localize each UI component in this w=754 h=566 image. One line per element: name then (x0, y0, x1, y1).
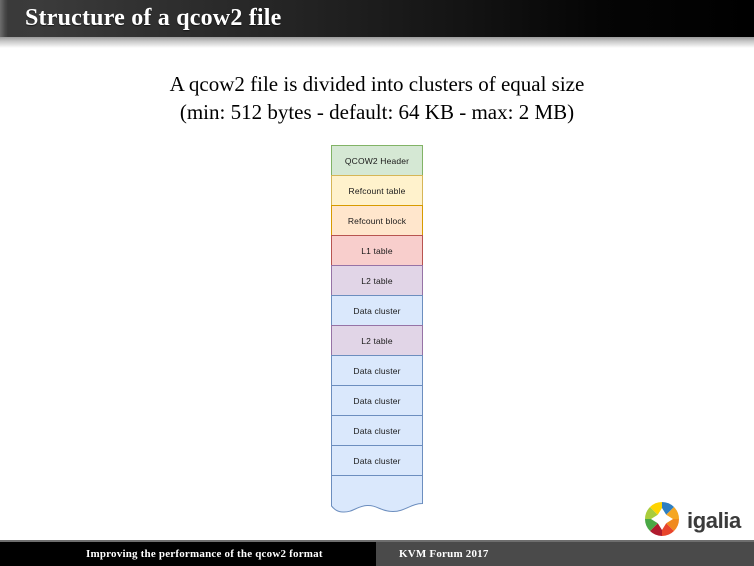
title-bar-shadow-strip (0, 37, 754, 48)
slide-title-bar: Structure of a qcow2 file (0, 0, 754, 37)
igalia-pinwheel-icon (645, 502, 679, 536)
diagram-block-data-cluster-1: Data cluster (331, 295, 423, 326)
footer-event-name: KVM Forum 2017 (399, 542, 489, 566)
igalia-wordmark: igalia (687, 508, 742, 533)
diagram-block-data-cluster-5: Data cluster (331, 445, 423, 476)
slide-subtitle: A qcow2 file is divided into clusters of… (0, 70, 754, 126)
diagram-block-data-cluster-4: Data cluster (331, 415, 423, 446)
diagram-block-l1-table: L1 table (331, 235, 423, 266)
diagram-continuation-torn-block (331, 475, 423, 513)
diagram-block-l2-table-2: L2 table (331, 325, 423, 356)
title-bar-left-accent (0, 0, 8, 37)
diagram-block-refcount-block: Refcount block (331, 205, 423, 236)
subtitle-line-2: (min: 512 bytes - default: 64 KB - max: … (0, 98, 754, 126)
footer-presentation-title: Improving the performance of the qcow2 f… (86, 542, 323, 566)
igalia-logo: igalia (643, 500, 747, 538)
qcow2-layout-diagram: QCOW2 Header Refcount table Refcount blo… (331, 145, 423, 513)
diagram-block-qcow2-header: QCOW2 Header (331, 145, 423, 176)
diagram-block-refcount-table: Refcount table (331, 175, 423, 206)
subtitle-line-1: A qcow2 file is divided into clusters of… (0, 70, 754, 98)
diagram-block-data-cluster-2: Data cluster (331, 355, 423, 386)
page-title: Structure of a qcow2 file (25, 1, 282, 36)
diagram-block-data-cluster-3: Data cluster (331, 385, 423, 416)
slide-canvas: Structure of a qcow2 file A qcow2 file i… (0, 0, 754, 566)
diagram-block-l2-table-1: L2 table (331, 265, 423, 296)
